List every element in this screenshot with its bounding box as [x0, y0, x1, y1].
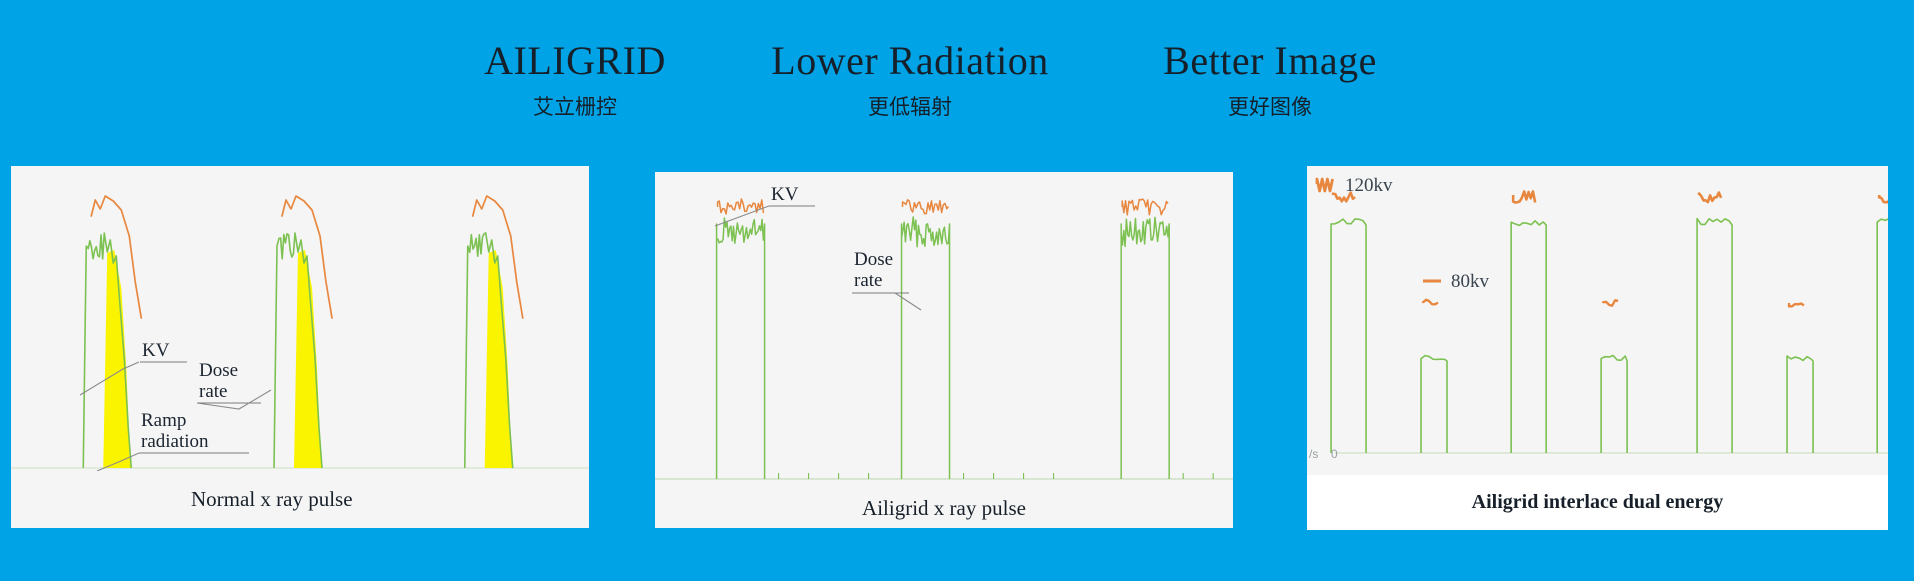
dose2-label-text: Dose [854, 249, 893, 270]
chart-panel-ailigrid-pulse: KV Dose rate Ailigrid x ray pulse [655, 172, 1233, 528]
dose2-label-text2: rate [854, 270, 882, 291]
axis-unit-label: /s [1309, 447, 1318, 461]
chart-panel-normal-pulse: KV Dose rate Ramp radiation Norma [11, 166, 589, 528]
header-group-2: Lower Radiation 更低辐射 [720, 38, 1100, 122]
chart-ailigrid-pulse: KV Dose rate [655, 172, 1233, 488]
interlace-svg: 120kv 80kv /s 0 [1307, 166, 1888, 475]
panel-caption-interlace-dual-energy: Ailigrid interlace dual energy [1307, 475, 1888, 530]
annotation-kv: KV [80, 340, 187, 395]
slide-root: AILIGRID 艾立栅控 Lower Radiation 更低辐射 Bette… [0, 0, 1914, 581]
chart-interlace-dual-energy: 120kv 80kv /s 0 [1307, 166, 1888, 475]
annotation-kv: KV [715, 184, 815, 226]
header-title-cn-2: 更低辐射 [720, 92, 1100, 122]
header-title-en-1: AILIGRID [430, 38, 720, 84]
legend-label-80kv: 80kv [1451, 271, 1490, 292]
header-title-en-3: Better Image [1100, 38, 1440, 84]
panel-caption-normal-pulse: Normal x ray pulse [11, 471, 589, 528]
axis-zero-label: 0 [1331, 447, 1338, 461]
legend-label-120kv: 120kv [1345, 175, 1393, 196]
chart-panel-interlace-dual-energy: 120kv 80kv /s 0 Ailigrid interlace dual … [1307, 166, 1888, 530]
header-title-en-2: Lower Radiation [720, 38, 1100, 84]
annotation-dose-rate: Dose rate [197, 360, 271, 409]
header-group-1: AILIGRID 艾立栅控 [430, 38, 720, 122]
ailigrid-pulse-svg: KV Dose rate [655, 172, 1233, 488]
dose-label-text2: rate [199, 381, 227, 402]
dose-label-text: Dose [199, 360, 238, 381]
panel-caption-ailigrid-pulse: Ailigrid x ray pulse [655, 488, 1233, 528]
normal-pulse-svg: KV Dose rate Ramp radiation [11, 166, 589, 471]
annotation-dose-rate: Dose rate [852, 249, 921, 310]
chart-normal-pulse: KV Dose rate Ramp radiation [11, 166, 589, 471]
header-title-cn-3: 更好图像 [1100, 92, 1440, 122]
header: AILIGRID 艾立栅控 Lower Radiation 更低辐射 Bette… [0, 18, 1914, 128]
ramp-label-text2: radiation [141, 431, 209, 452]
header-title-cn-1: 艾立栅控 [430, 92, 720, 122]
ramp-label-text: Ramp [141, 410, 186, 431]
kv2-label-text: KV [771, 184, 799, 205]
header-group-3: Better Image 更好图像 [1100, 38, 1440, 122]
kv-label-text: KV [142, 340, 170, 361]
